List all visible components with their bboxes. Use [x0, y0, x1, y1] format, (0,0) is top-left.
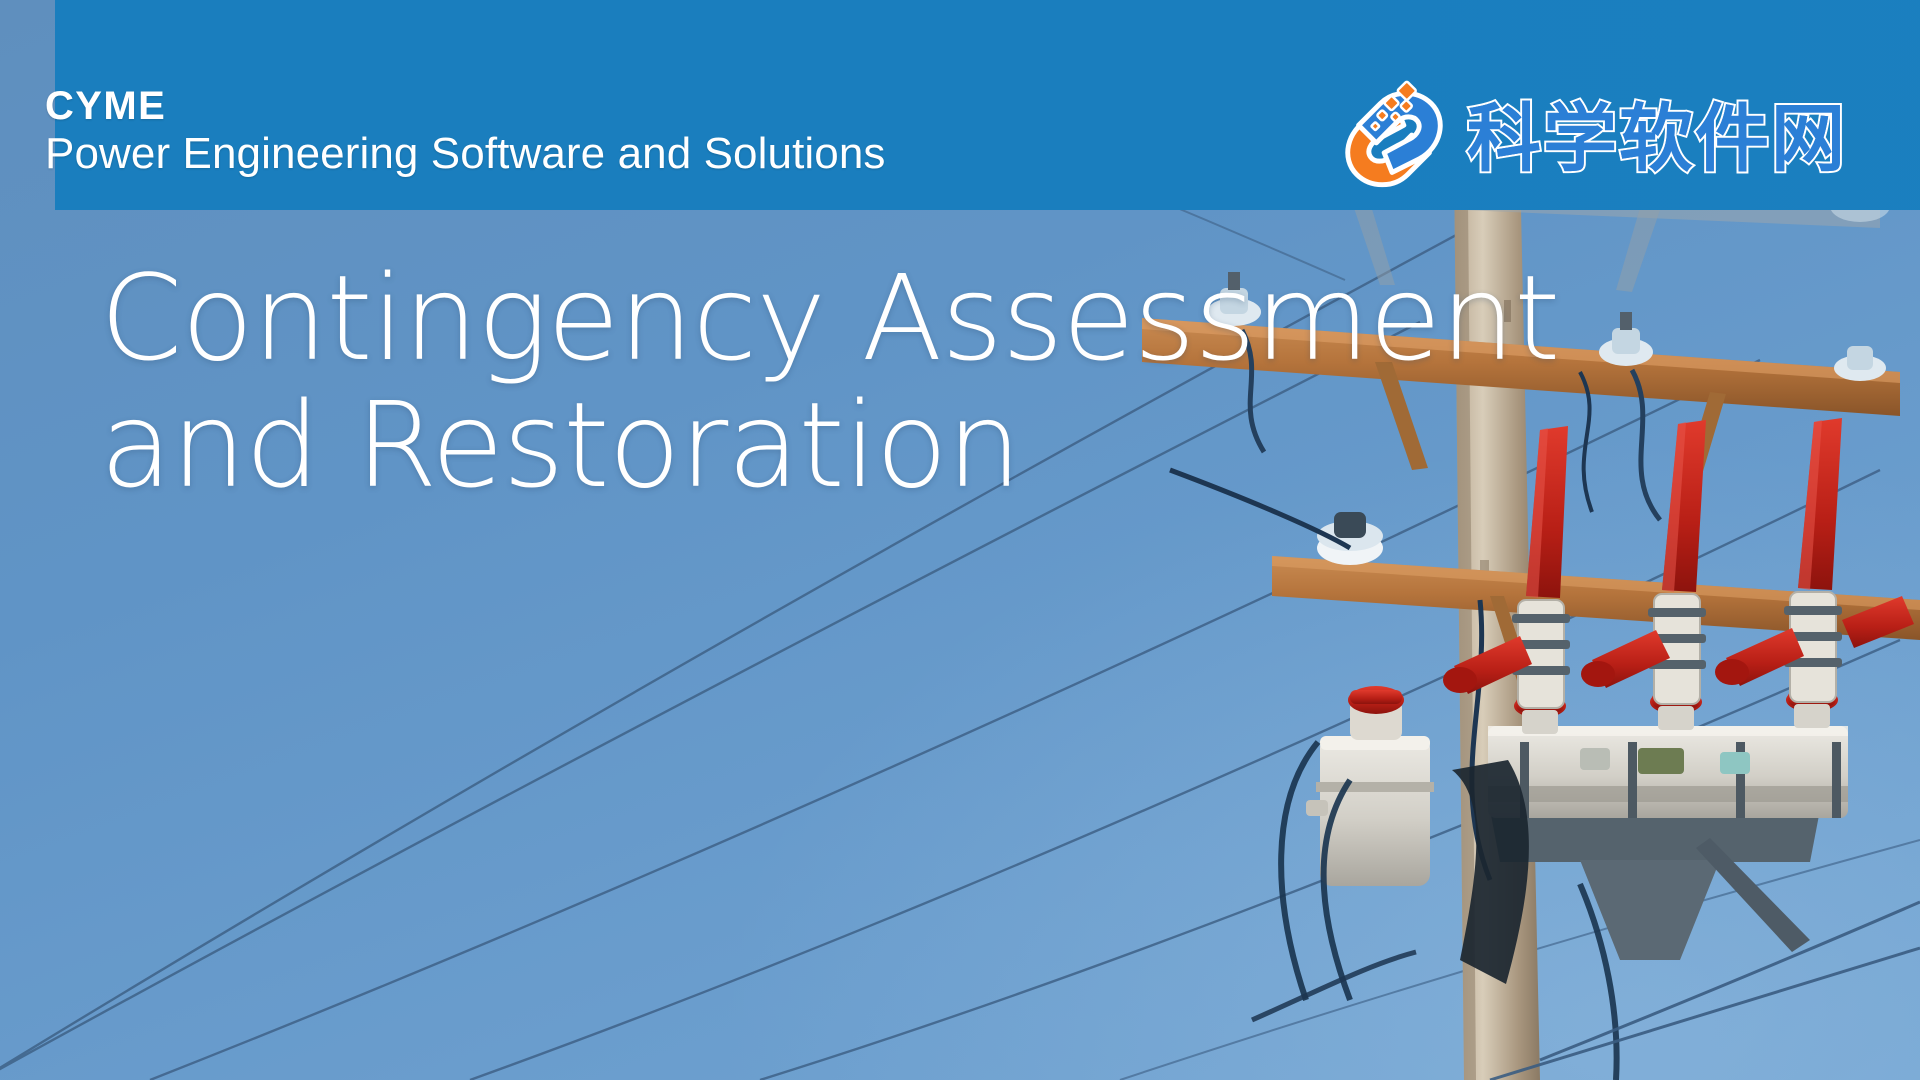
interlocking-diamond-logo-icon: [1335, 80, 1453, 198]
page-title: Contingency Assessment and Restoration: [100, 255, 1280, 510]
watermark-text-wrap: 科学软件网 科学软件网: [1467, 102, 1847, 176]
watermark: 科学软件网 科学软件网: [1335, 80, 1847, 198]
brand-name: CYME: [45, 86, 886, 126]
brand-block: CYME Power Engineering Software and Solu…: [45, 86, 886, 176]
page-title-line-1: Contingency Assessment: [100, 255, 1280, 382]
page-title-line-2: and Restoration: [100, 382, 1280, 509]
watermark-text-fill: 科学软件网: [1467, 102, 1847, 176]
cover-page: CYME Power Engineering Software and Solu…: [0, 0, 1920, 1080]
brand-tagline: Power Engineering Software and Solutions: [45, 132, 886, 176]
